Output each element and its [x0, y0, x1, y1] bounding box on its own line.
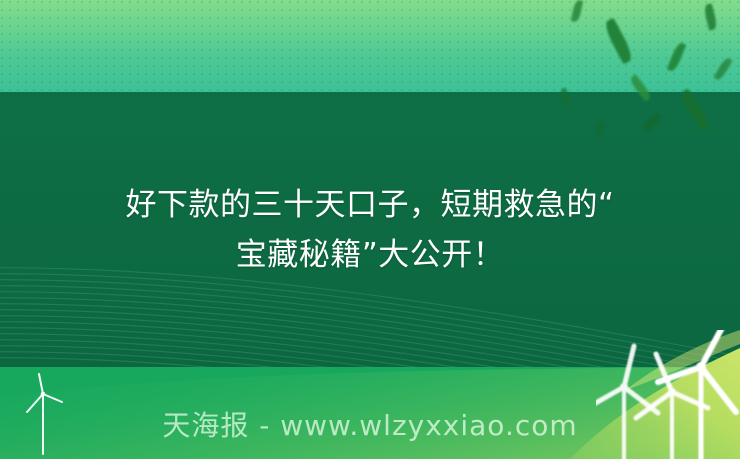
poster-canvas: 好下款的三十天口子，短期救急的“ 宝藏秘籍”大公开！ 天海报 - www.wlz… [0, 0, 740, 459]
sky-dot-texture [0, 0, 740, 93]
poster-headline: 好下款的三十天口子，短期救急的“ 宝藏秘籍”大公开！ [0, 180, 740, 280]
watermark-text: 天海报 - www.wlzyxxiao.com [0, 404, 740, 444]
